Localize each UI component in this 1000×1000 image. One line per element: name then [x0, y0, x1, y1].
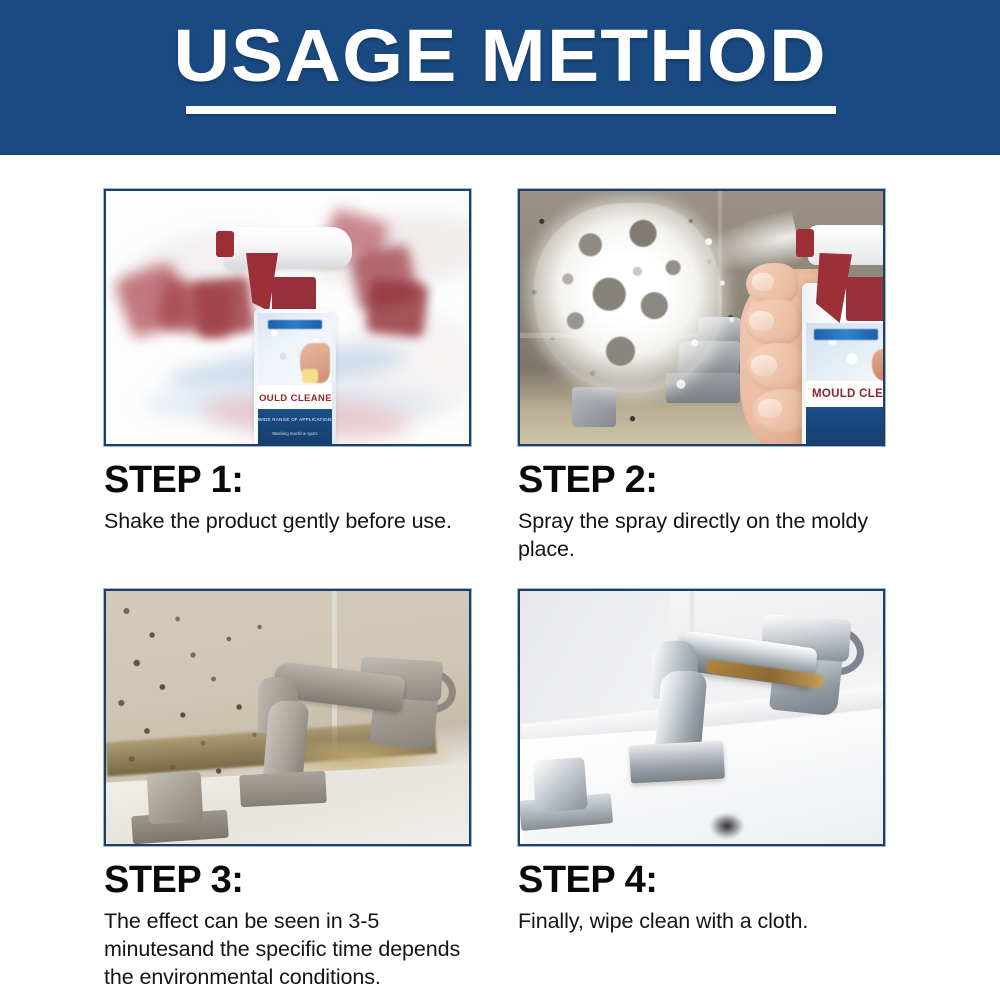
step-card-4: STEP 4: Finally, wipe clean with a cloth…	[518, 589, 932, 935]
fingernail	[758, 399, 782, 418]
page-header: USAGE METHOD	[0, 0, 1000, 155]
page-title: USAGE METHOD	[0, 16, 1000, 96]
step-1-heading: STEP 1:	[104, 460, 518, 500]
step-4-heading: STEP 4:	[518, 860, 932, 900]
product-name-text: MOULD CLEANER	[806, 381, 883, 407]
faucet-stem	[262, 701, 309, 783]
spray-nozzle-tip	[216, 231, 234, 257]
faucet-base	[629, 741, 725, 784]
faucet-base	[239, 771, 327, 807]
faucet-knob	[532, 757, 588, 813]
step-2-photo-frame: MOULD CLEANER	[518, 189, 885, 446]
clean-faucet-photo	[520, 591, 883, 844]
bottle-collar	[846, 277, 883, 321]
label-banner-line-1: WIDE RANGE OF APPLICATIONS	[258, 417, 332, 422]
step-3-heading: STEP 3:	[104, 860, 518, 900]
faucet-knob	[147, 772, 204, 825]
step-3-caption: The effect can be seen in 3-5 minutesand…	[104, 907, 489, 991]
label-blue-banner	[806, 407, 883, 444]
label-blue-banner: WIDE RANGE OF APPLICATIONS Washing machi…	[258, 409, 332, 444]
spray-bottle-shaking-photo: MOULD CLEANER WIDE RANGE OF APPLICATIONS…	[106, 191, 469, 444]
bottle-collar	[272, 277, 316, 311]
label-artwork	[258, 313, 332, 385]
label-banner-line-2: Washing machine spots	[258, 431, 332, 436]
step-2-caption: Spray the spray directly on the moldy pl…	[518, 507, 903, 563]
product-label: MOULD CLEANER WIDE RANGE OF APPLICATIONS…	[258, 313, 332, 444]
spraying-foam-on-mold-photo: MOULD CLEANER	[520, 191, 883, 444]
step-1-caption: Shake the product gently before use.	[104, 507, 489, 535]
step-3-photo-frame	[104, 589, 471, 846]
dirty-moldy-faucet-photo	[106, 591, 469, 844]
steps-grid: MOULD CLEANER WIDE RANGE OF APPLICATIONS…	[0, 155, 1000, 1000]
step-card-2: MOULD CLEANER STEP 2: Spray the spray di…	[518, 189, 932, 563]
motion-blur-streak	[365, 278, 428, 338]
step-card-1: MOULD CLEANER WIDE RANGE OF APPLICATIONS…	[104, 189, 518, 535]
label-hand-illustration	[300, 343, 330, 383]
motion-blur-streak	[192, 275, 255, 338]
step-4-photo-frame	[518, 589, 885, 846]
fingernail	[752, 273, 774, 291]
fingernail	[749, 311, 774, 331]
step-card-3: STEP 3: The effect can be seen in 3-5 mi…	[104, 589, 518, 991]
step-1-photo-frame: MOULD CLEANER WIDE RANGE OF APPLICATIONS…	[104, 189, 471, 446]
step-4-caption: Finally, wipe clean with a cloth.	[518, 907, 903, 935]
brand-wordmark	[814, 329, 878, 340]
dark-reflection-spot	[710, 813, 744, 839]
brand-wordmark	[268, 320, 322, 329]
spray-nozzle	[224, 227, 352, 269]
product-name-text: MOULD CLEANER	[258, 387, 332, 409]
title-underline-rule	[186, 106, 836, 114]
step-2-heading: STEP 2:	[518, 460, 932, 500]
fingernail	[751, 355, 777, 376]
spray-nozzle-tip	[796, 229, 814, 257]
